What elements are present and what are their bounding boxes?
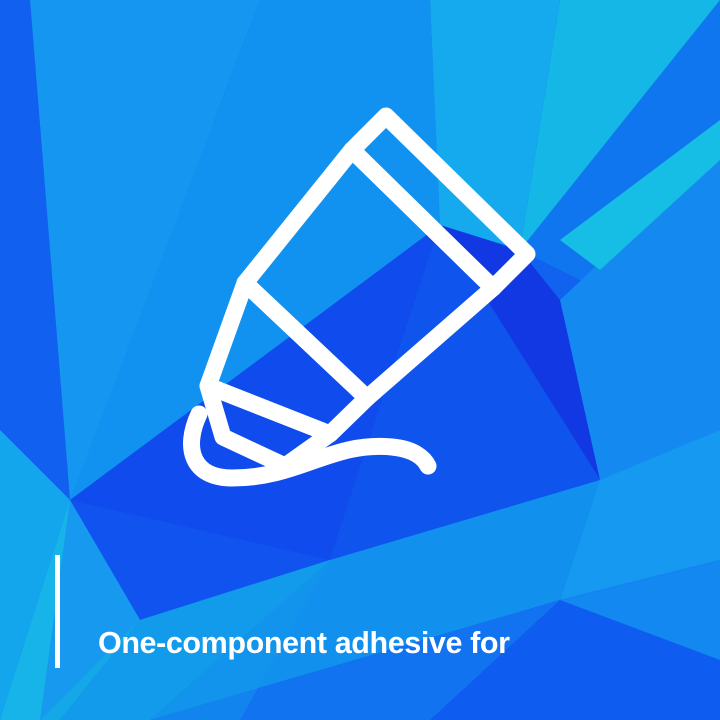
caption-block: One-component adhesive for easy applicat… — [55, 552, 695, 720]
feature-tile: One-component adhesive for easy applicat… — [0, 0, 720, 720]
tube-crimp-seal — [352, 116, 527, 288]
accent-bar — [55, 555, 60, 668]
caption-line-1: One-component adhesive for — [98, 625, 583, 662]
caption-text: One-component adhesive for easy applicat… — [98, 552, 583, 720]
